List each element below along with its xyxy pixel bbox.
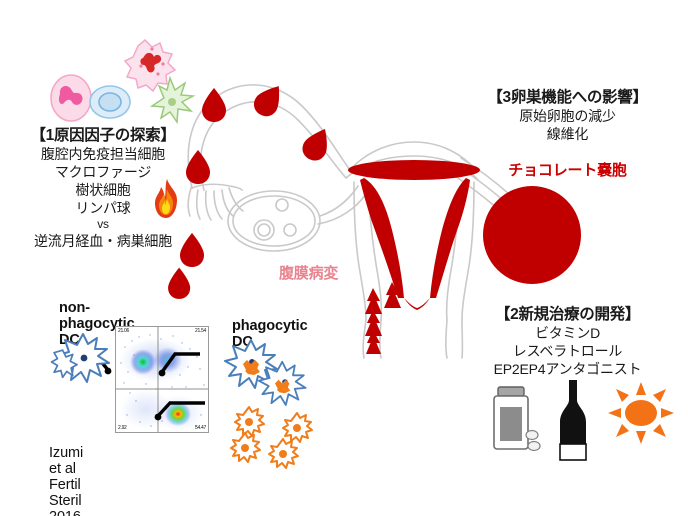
section-3-heading: 【3卵巣機能への影響】	[455, 88, 680, 108]
neutrophil-cell-icon	[51, 75, 91, 121]
section-1-heading: 【1原因因子の探索】	[8, 126, 198, 146]
section-2-line-0: ビタミンD	[455, 325, 680, 343]
lymphocyte-cell-icon	[90, 86, 130, 118]
chocolate-cyst-label: チョコレート嚢胞	[455, 159, 680, 180]
phagocytic-dc-illustration	[223, 338, 309, 410]
blood-drop-group	[178, 58, 478, 358]
section-3-block: 【3卵巣機能への影響】 原始卵胞の減少 線維化	[455, 88, 680, 144]
citation-text: Izumi et al Fertil Steril 2016	[49, 445, 83, 516]
chocolate-cyst-label-wrap: チョコレート嚢胞	[455, 159, 680, 180]
section-1-line-3: リンパ球	[8, 200, 198, 218]
section-3-line-1: 線維化	[455, 126, 680, 144]
section-1-line-1: マクロファージ	[8, 164, 198, 182]
endometriosis-research-figure: 【1原因因子の探索】 腹腔内免疫担当細胞 マクロファージ 樹状細胞 リンパ球 v…	[0, 0, 688, 516]
pill-bottle-icon	[490, 385, 542, 457]
wine-bottle-icon	[556, 380, 590, 460]
section-1-block: 【1原因因子の探索】 腹腔内免疫担当細胞 マクロファージ 樹状細胞 リンパ球 v…	[8, 126, 198, 251]
chocolate-cyst-icon	[483, 186, 581, 284]
section-1-line-0: 腹腔内免疫担当細胞	[8, 146, 198, 164]
macrophage-cell-icon	[125, 40, 175, 91]
section-2-line-2: EP2EP4アンタゴニスト	[455, 361, 680, 379]
section-1-line-5: 逆流月経血・病巣細胞	[8, 233, 198, 251]
peritoneal-lesion-label: 腹膜病変	[279, 262, 338, 283]
immune-cell-cluster	[46, 38, 186, 133]
non-phagocytic-dc-illustration	[53, 330, 115, 392]
section-2-block: 【2新規治療の開発】 ビタミンD レスベラトロール EP2EP4アンタゴニスト	[455, 305, 680, 379]
sun-icon	[608, 382, 674, 444]
section-1-line-4: vs	[8, 217, 198, 232]
section-1-line-2: 樹状細胞	[8, 182, 198, 200]
debris-particle-group	[231, 405, 341, 467]
section-2-line-1: レスベラトロール	[455, 343, 680, 361]
section-3-line-0: 原始卵胞の減少	[455, 108, 680, 126]
section-2-heading: 【2新規治療の開発】	[455, 305, 680, 325]
